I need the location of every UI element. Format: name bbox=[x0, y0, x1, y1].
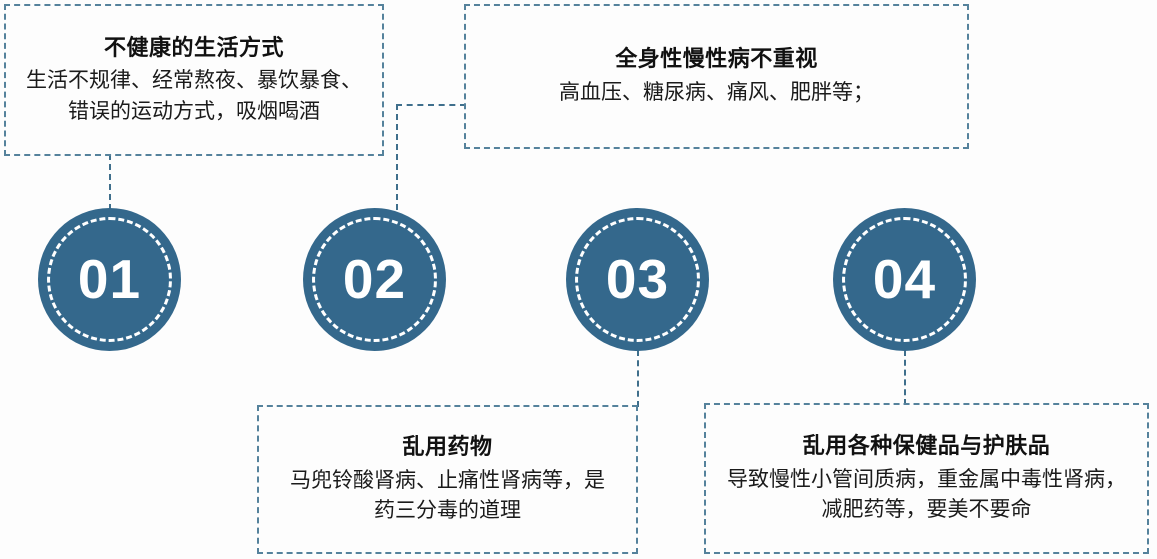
info-card-step-01[interactable]: 不健康的生活方式 生活不规律、经常熬夜、暴饮暴食、 错误的运动方式，吸烟喝酒 bbox=[4, 4, 384, 156]
info-card-step-02[interactable]: 全身性慢性病不重视 高血压、糖尿病、痛风、肥胖等； bbox=[464, 4, 969, 149]
connector-step-01 bbox=[109, 154, 111, 210]
info-card-step-03[interactable]: 乱用药物 马兜铃酸肾病、止痛性肾病等，是 药三分毒的道理 bbox=[257, 405, 638, 554]
connector-step-02-horizontal bbox=[396, 104, 466, 106]
infographic-canvas: 不健康的生活方式 生活不规律、经常熬夜、暴饮暴食、 错误的运动方式，吸烟喝酒 全… bbox=[0, 0, 1157, 559]
card-title-step-03: 乱用药物 bbox=[402, 432, 492, 462]
step-number-02: 02 bbox=[343, 252, 406, 307]
connector-step-02-vertical bbox=[396, 104, 398, 210]
step-number-03: 03 bbox=[606, 252, 669, 307]
card-title-step-01: 不健康的生活方式 bbox=[104, 33, 284, 63]
step-number-04: 04 bbox=[873, 252, 936, 307]
card-body-step-01-line2: 错误的运动方式，吸烟喝酒 bbox=[68, 97, 320, 127]
step-circle-01[interactable]: 01 bbox=[38, 208, 181, 351]
card-body-step-03-line1: 马兜铃酸肾病、止痛性肾病等，是 bbox=[290, 466, 605, 496]
card-body-step-04-line2: 减肥药等，要美不要命 bbox=[822, 495, 1032, 525]
info-card-step-04[interactable]: 乱用各种保健品与护肤品 导致慢性小管间质病，重金属中毒性肾病， 减肥药等，要美不… bbox=[704, 403, 1149, 554]
step-circle-04[interactable]: 04 bbox=[833, 208, 976, 351]
step-circle-02[interactable]: 02 bbox=[303, 208, 446, 351]
card-title-step-04: 乱用各种保健品与护肤品 bbox=[803, 431, 1051, 461]
card-body-step-01-line1: 生活不规律、经常熬夜、暴饮暴食、 bbox=[26, 66, 362, 96]
step-circle-03[interactable]: 03 bbox=[566, 208, 709, 351]
step-number-01: 01 bbox=[78, 252, 141, 307]
connector-step-03 bbox=[637, 350, 639, 407]
card-body-step-04-line1: 导致慢性小管间质病，重金属中毒性肾病， bbox=[727, 465, 1126, 495]
card-body-step-02-line1: 高血压、糖尿病、痛风、肥胖等； bbox=[559, 78, 874, 108]
card-body-step-03-line2: 药三分毒的道理 bbox=[374, 496, 521, 526]
card-title-step-02: 全身性慢性病不重视 bbox=[615, 44, 818, 74]
connector-step-04 bbox=[904, 350, 906, 405]
